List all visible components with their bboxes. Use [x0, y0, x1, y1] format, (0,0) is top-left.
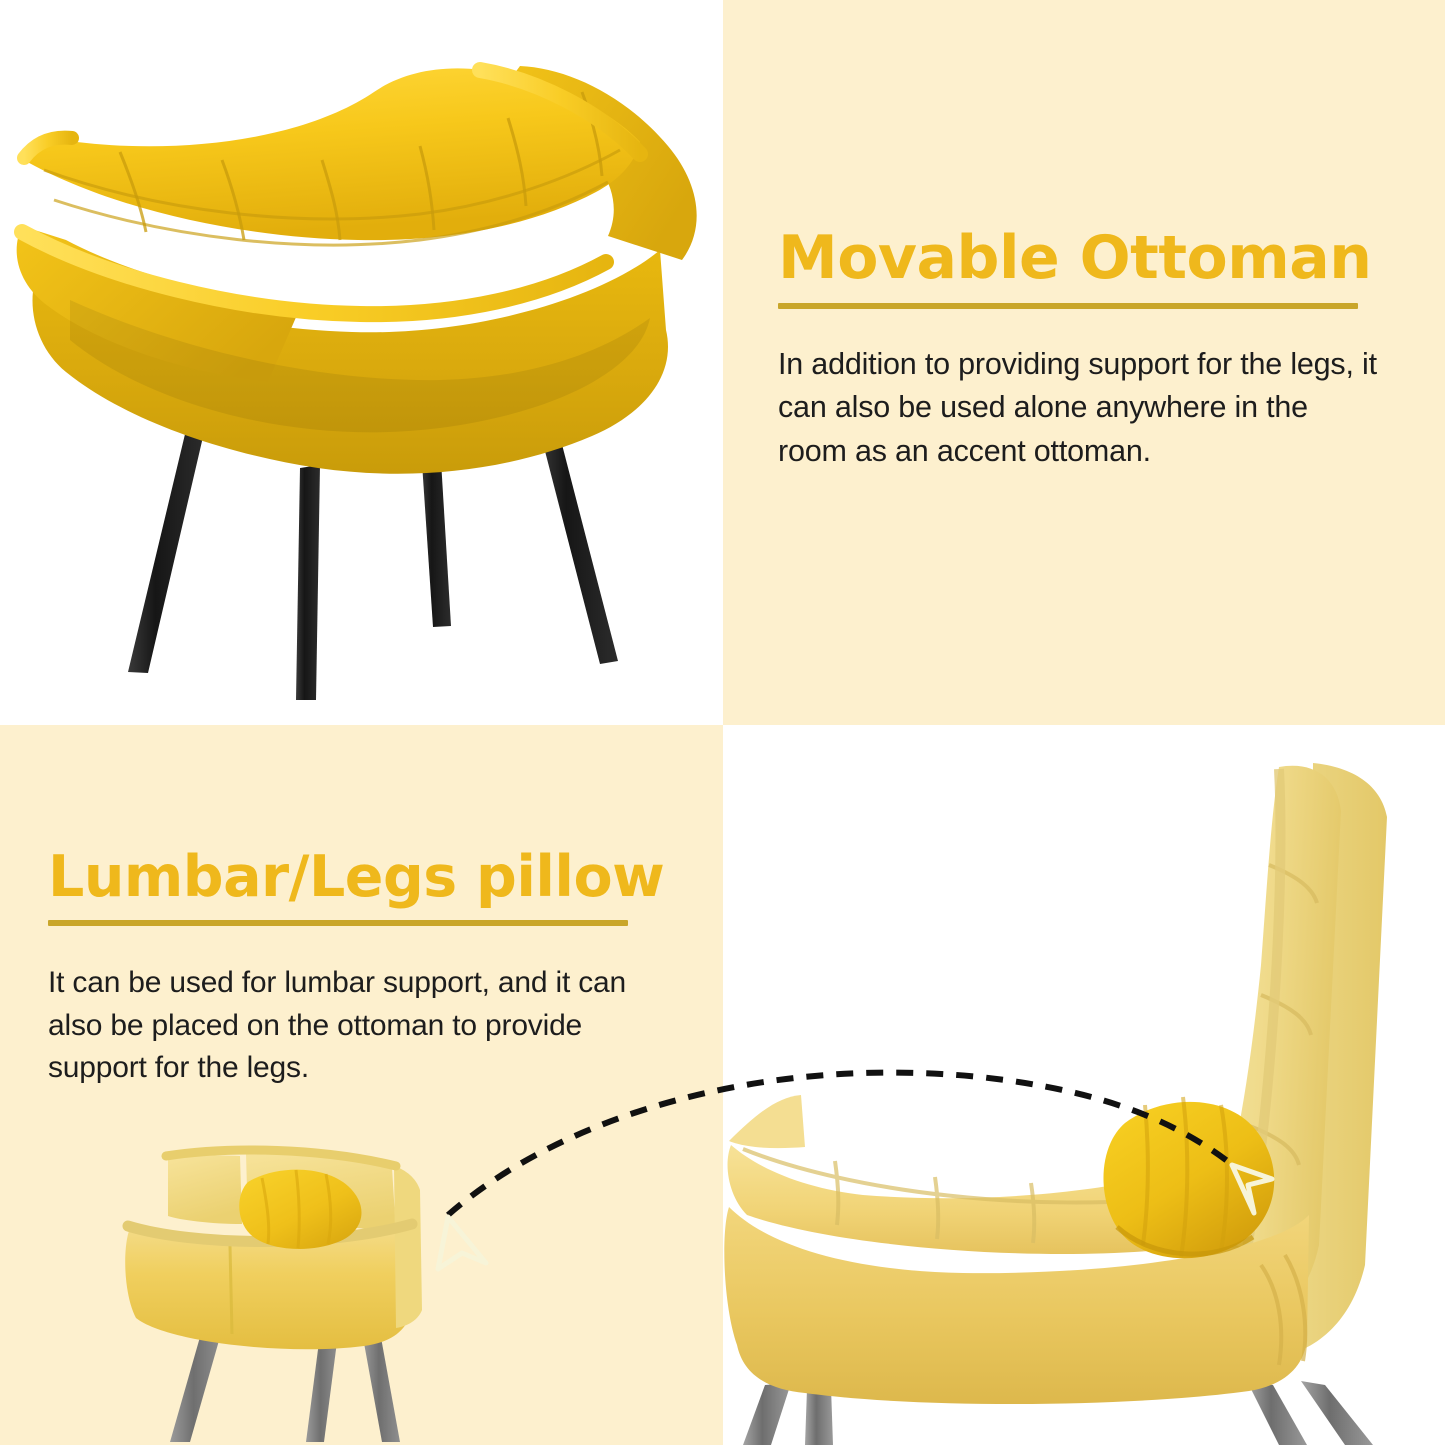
- movable-ottoman-heading-rule: [778, 303, 1358, 309]
- lumbar-pillow-text-block: Lumbar/Legs pillow It can be used for lu…: [48, 848, 648, 1120]
- panel-movable-ottoman-photo: [0, 0, 723, 725]
- movable-ottoman-heading: Movable Ottoman: [778, 228, 1378, 289]
- movable-ottoman-text-block: Movable Ottoman In addition to providing…: [778, 228, 1378, 504]
- accent-chair-side-illustration: [723, 745, 1445, 1445]
- product-infographic: Movable Ottoman In addition to providing…: [0, 0, 1445, 1445]
- ottoman-with-pillow-illustration: [110, 1120, 580, 1445]
- lumbar-pillow-heading: Lumbar/Legs pillow: [48, 848, 648, 906]
- lumbar-pillow-body: It can be used for lumbar support, and i…: [48, 962, 648, 1090]
- panel-accent-chair-photo: [723, 725, 1445, 1445]
- movable-ottoman-body: In addition to providing support for the…: [778, 343, 1378, 473]
- ottoman-illustration: [0, 0, 723, 725]
- lumbar-pillow-heading-rule: [48, 920, 628, 926]
- chair-seat-back-edge: [729, 1095, 805, 1148]
- small-ottoman-back-left: [168, 1155, 242, 1224]
- small-ottoman-side-wall: [394, 1166, 422, 1328]
